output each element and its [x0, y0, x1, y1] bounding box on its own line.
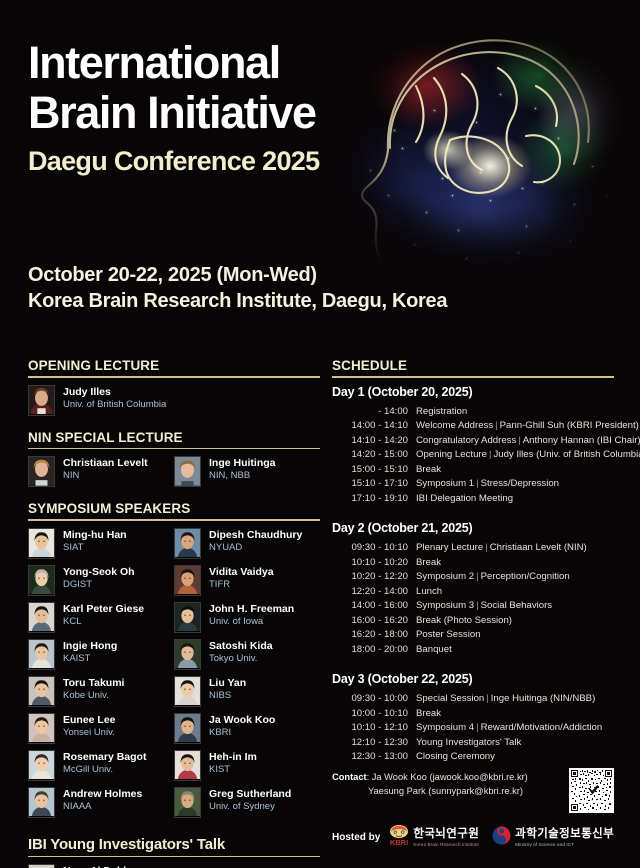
schedule-time: 14:00 - 14:10 [332, 419, 408, 434]
speaker-affiliation: Yonsei Univ. [63, 727, 116, 739]
speaker-card[interactable]: Christiaan Levelt NIN [28, 456, 174, 487]
speaker-affiliation: SIAT [63, 542, 127, 554]
speaker-info: Karl Peter GieseKCL [63, 602, 144, 628]
speaker-card[interactable]: John H. FreemanUniv. of Iowa [174, 602, 320, 633]
speaker-photo [28, 676, 55, 707]
symposium-speaker-list: Ming-hu HanSIATDipesh ChaudhuryNYUADYong… [28, 528, 320, 824]
speaker-affiliation: NYUAD [209, 542, 302, 554]
speaker-info: Toru TakumiKobe Univ. [63, 676, 124, 702]
spacer [332, 657, 614, 672]
conference-location: Korea Brain Research Institute, Daegu, K… [28, 288, 447, 314]
brain-head-artwork [330, 0, 640, 290]
schedule-session-detail: Stress/Depression [481, 478, 559, 489]
spacer [28, 493, 320, 501]
schedule-row: 17:10 - 19:10IBI Delegation Meeting [332, 492, 614, 507]
qr-code[interactable] [569, 768, 614, 813]
speaker-affiliation: KCL [63, 616, 144, 628]
schedule-description: Symposium 4|Reward/Motivation/Addiction [416, 721, 602, 736]
schedule-session-name: Special Session [416, 693, 484, 704]
speaker-photo [174, 639, 201, 670]
speaker-info: Inge Huitinga NIN, NBB [209, 456, 276, 482]
speaker-card[interactable]: Noor Al Dahhan Hospital for Sick Childre… [28, 864, 320, 868]
schedule-time: 10:10 - 12:10 [332, 721, 408, 736]
speaker-info: Eunee LeeYonsei Univ. [63, 713, 116, 739]
schedule-session-detail: Social Behaviors [481, 600, 552, 611]
speaker-photo [28, 750, 55, 781]
schedule-row: 09:30 - 10:00Special Session|Inge Huitin… [332, 692, 614, 707]
schedule-row: 10:20 - 12:20Symposium 2|Perception/Cogn… [332, 570, 614, 585]
head-profile-line-icon [330, 0, 640, 290]
schedule-day: Day 1 (October 20, 2025)- 14:00Registrat… [332, 385, 614, 507]
young-investigators-speaker-list: Noor Al Dahhan Hospital for Sick Childre… [28, 864, 320, 868]
speaker-name: Ingie Hong [63, 640, 117, 653]
speaker-name: Dipesh Chaudhury [209, 529, 302, 542]
speaker-card[interactable]: Dipesh ChaudhuryNYUAD [174, 528, 320, 559]
schedule-session-name: Opening Lecture [416, 449, 487, 460]
speaker-photo [174, 713, 201, 744]
kbri-name-korean: 한국뇌연구원 [413, 828, 479, 841]
schedule-time: 09:30 - 10:10 [332, 541, 408, 556]
speaker-photo [174, 750, 201, 781]
speaker-card[interactable]: Toru TakumiKobe Univ. [28, 676, 174, 707]
speaker-card[interactable]: Ming-hu HanSIAT [28, 528, 174, 559]
kbri-logo-text: 한국뇌연구원 Korea Brain Research Institute [413, 828, 479, 848]
speaker-photo [28, 565, 55, 596]
kbri-logo-icon: KBRI [389, 824, 409, 851]
opening-lecture-speaker-list: Judy Illes Univ. of British Columbia [28, 385, 320, 422]
schedule-description: Break [416, 556, 441, 571]
schedule-session-detail: Perception/Cognition [481, 571, 570, 582]
msit-logo-text: 과학기술정보통신부 Ministry of Science and ICT [515, 828, 614, 848]
stars-overlay [330, 0, 640, 290]
spacer [332, 506, 614, 521]
schedule-description: Closing Ceremony [416, 750, 495, 765]
schedule-day-title: Day 3 (October 22, 2025) [332, 672, 614, 686]
section-heading-nin-special-lecture: NIN SPECIAL LECTURE [28, 430, 320, 448]
section-heading-schedule: SCHEDULE [332, 358, 614, 376]
speaker-affiliation: KAIST [63, 653, 117, 665]
section-divider [28, 856, 320, 858]
speaker-card[interactable]: Greg SutherlandUniv. of Sydney [174, 787, 320, 818]
speaker-photo [28, 864, 55, 868]
speaker-card[interactable]: Yong-Seok OhDGIST [28, 565, 174, 596]
hosted-by-label: Hosted by [332, 832, 380, 843]
poster-subtitle: Daegu Conference 2025 [28, 144, 319, 178]
schedule-session-name: Congratulatory Address [416, 435, 516, 446]
schedule-time: 09:30 - 10:00 [332, 692, 408, 707]
speaker-name: Heh-in Im [209, 751, 257, 764]
speaker-name: Toru Takumi [63, 677, 124, 690]
schedule-time: 16:00 - 16:20 [332, 614, 408, 629]
speaker-card[interactable]: Vidita VaidyaTIFR [174, 565, 320, 596]
schedule-row: 16:20 - 18:00Poster Session [332, 628, 614, 643]
schedule-session-detail: Christiaan Levelt (NIN) [490, 542, 587, 553]
schedule-time: 10:10 - 10:20 [332, 556, 408, 571]
speaker-info: Christiaan Levelt NIN [63, 456, 148, 482]
msit-name-korean: 과학기술정보통신부 [515, 828, 614, 841]
kbri-logo-unit[interactable]: KBRI 한국뇌연구원 Korea Brain Research Institu… [389, 824, 479, 851]
speaker-photo [174, 676, 201, 707]
speaker-photo [174, 787, 201, 818]
speaker-name: Greg Sutherland [209, 788, 291, 801]
schedule-row: 14:10 - 14:20Congratulatory Address|Anth… [332, 434, 614, 449]
section-divider [332, 376, 614, 378]
speaker-name: Satoshi Kida [209, 640, 273, 653]
schedule-description: Banquet [416, 643, 452, 658]
speaker-name: Rosemary Bagot [63, 751, 146, 764]
speaker-affiliation: Kobe Univ. [63, 690, 124, 702]
qr-code-pattern [571, 770, 612, 811]
speaker-card[interactable]: Ja Wook KooKBRI [174, 713, 320, 744]
speaker-name: John H. Freeman [209, 603, 294, 616]
hosted-by-block: Hosted by KBRI 한국뇌연구원 Korea Brain Resear… [332, 824, 632, 851]
schedule-row: 16:00 - 16:20Break (Photo Session) [332, 614, 614, 629]
speaker-card[interactable]: Andrew HolmesNIAAA [28, 787, 174, 818]
schedule-session-detail: Inge Huitinga (NIN/NBB) [491, 693, 596, 704]
schedule-row: 15:10 - 17:10Symposium 1|Stress/Depressi… [332, 477, 614, 492]
contact-primary: Contact: Ja Wook Koo (jawook.koo@kbri.re… [332, 770, 563, 784]
speaker-photo [28, 639, 55, 670]
schedule-session-name: Symposium 1 [416, 478, 474, 489]
speaker-info: Yong-Seok OhDGIST [63, 565, 135, 591]
svg-text:KBRI: KBRI [390, 838, 408, 846]
schedule-row: 15:00 - 15:10Break [332, 463, 614, 478]
msit-taeguk-icon [492, 826, 511, 850]
venue-block: October 20-22, 2025 (Mon-Wed) Korea Brai… [28, 262, 447, 314]
section-divider [28, 376, 320, 378]
schedule-time: 18:00 - 20:00 [332, 643, 408, 658]
schedule-description: Break [416, 707, 441, 722]
schedule-row: 12:10 - 12:30Young Investigators' Talk [332, 736, 614, 751]
schedule-description: Young Investigators' Talk [416, 736, 521, 751]
schedule-time: 10:20 - 12:20 [332, 570, 408, 585]
schedule-description: Special Session|Inge Huitinga (NIN/NBB) [416, 692, 595, 707]
schedule-time: 14:20 - 15:00 [332, 448, 408, 463]
schedule-description: Plenary Lecture|Christiaan Levelt (NIN) [416, 541, 587, 556]
conference-date: October 20-22, 2025 (Mon-Wed) [28, 262, 447, 288]
msit-name-english: Ministry of Science and ICT [515, 841, 614, 848]
speaker-affiliation: NIBS [209, 690, 246, 702]
schedule-session-name: Symposium 3 [416, 600, 474, 611]
speaker-info: Satoshi KidaTokyo Univ. [209, 639, 273, 665]
speaker-info: Ingie HongKAIST [63, 639, 117, 665]
speaker-name: Andrew Holmes [63, 788, 142, 801]
contact-line-2: Yaesung Park (sunnypark@kbri.re.kr) [332, 784, 563, 798]
speaker-card[interactable]: Ingie HongKAIST [28, 639, 174, 670]
schedule-description: Break (Photo Session) [416, 614, 512, 629]
schedule-row: 10:10 - 12:10Symposium 4|Reward/Motivati… [332, 721, 614, 736]
speaker-affiliation: DGIST [63, 579, 135, 591]
schedule-row: 12:30 - 13:00Closing Ceremony [332, 750, 614, 765]
schedule-session-detail: Reward/Motivation/Addiction [481, 722, 603, 733]
speaker-card[interactable]: Heh-in ImKIST [174, 750, 320, 781]
schedule-description: Opening Lecture|Judy Illes (Univ. of Bri… [416, 448, 640, 463]
schedule-time: 12:20 - 14:00 [332, 585, 408, 600]
section-heading-young-investigators: IBI Young Investigators' Talk [28, 836, 320, 856]
conference-poster: International Brain Initiative Daegu Con… [0, 0, 640, 868]
schedule-description: Break [416, 463, 441, 478]
contact-block: Contact: Ja Wook Koo (jawook.koo@kbri.re… [332, 768, 614, 813]
speaker-info: Vidita VaidyaTIFR [209, 565, 274, 591]
speaker-name: Inge Huitinga [209, 457, 276, 470]
speaker-affiliation: McGill Univ. [63, 764, 146, 776]
speaker-name: Eunee Lee [63, 714, 116, 727]
speaker-name: Liu Yan [209, 677, 246, 690]
speaker-info: Ming-hu HanSIAT [63, 528, 127, 554]
contact-text: Contact: Ja Wook Koo (jawook.koo@kbri.re… [332, 768, 563, 798]
schedule-row: 12:20 - 14:00Lunch [332, 585, 614, 600]
speaker-affiliation: NIAAA [63, 801, 142, 813]
speaker-card[interactable]: Judy Illes Univ. of British Columbia [28, 385, 320, 416]
speaker-photo [174, 528, 201, 559]
schedule-description: IBI Delegation Meeting [416, 492, 513, 507]
schedule-day-title: Day 2 (October 21, 2025) [332, 521, 614, 535]
section-divider [28, 519, 320, 521]
speaker-photo [174, 602, 201, 633]
speaker-card[interactable]: Inge Huitinga NIN, NBB [174, 456, 320, 487]
schedule-description: Symposium 3|Social Behaviors [416, 599, 552, 614]
schedule-session-name: Symposium 4 [416, 722, 474, 733]
speaker-card[interactable]: Karl Peter GieseKCL [28, 602, 174, 633]
speaker-photo [28, 787, 55, 818]
schedule-description: Symposium 2|Perception/Cognition [416, 570, 570, 585]
schedule-description: Congratulatory Address|Anthony Hannan (I… [416, 434, 640, 449]
speaker-affiliation: Univ. of Iowa [209, 616, 294, 628]
speaker-info: Liu YanNIBS [209, 676, 246, 702]
schedule-row: - 14:00Registration [332, 405, 614, 420]
speaker-info: Noor Al Dahhan Hospital for Sick Childre… [63, 864, 170, 868]
schedule-time: 12:10 - 12:30 [332, 736, 408, 751]
speaker-photo [28, 602, 55, 633]
schedule-row: 14:00 - 14:10Welcome Address|Pann-Ghill … [332, 419, 614, 434]
title-line-2: Brain Initiative [28, 88, 319, 138]
section-divider [28, 448, 320, 450]
schedule-time: 14:00 - 16:00 [332, 599, 408, 614]
schedule-session-name: Plenary Lecture [416, 542, 483, 553]
msit-logo-unit[interactable]: 과학기술정보통신부 Ministry of Science and ICT [492, 826, 614, 850]
poster-title-block: International Brain Initiative Daegu Con… [28, 38, 319, 178]
schedule-session-detail: Pann-Ghill Suh (KBRI President) [500, 420, 639, 431]
spacer [28, 824, 320, 836]
speaker-info: Heh-in ImKIST [209, 750, 257, 776]
section-heading-opening-lecture: OPENING LECTURE [28, 358, 320, 376]
schedule-session-name: Welcome Address [416, 420, 493, 431]
speaker-info: Greg SutherlandUniv. of Sydney [209, 787, 291, 813]
speaker-name: Christiaan Levelt [63, 457, 148, 470]
speaker-info: Judy Illes Univ. of British Columbia [63, 385, 166, 411]
schedule-row: 14:20 - 15:00Opening Lecture|Judy Illes … [332, 448, 614, 463]
speaker-info: Dipesh ChaudhuryNYUAD [209, 528, 302, 554]
spacer [28, 422, 320, 430]
schedule-days: Day 1 (October 20, 2025)- 14:00Registrat… [332, 385, 614, 765]
schedule-description: Registration [416, 405, 467, 420]
speaker-card[interactable]: Satoshi KidaTokyo Univ. [174, 639, 320, 670]
schedule-time: 15:10 - 17:10 [332, 477, 408, 492]
schedule-time: 10:00 - 10:10 [332, 707, 408, 722]
schedule-row: 10:00 - 10:10Break [332, 707, 614, 722]
speaker-affiliation: NIN [63, 470, 148, 482]
speaker-name: Karl Peter Giese [63, 603, 144, 616]
schedule-session-name: Symposium 2 [416, 571, 474, 582]
contact-line-1: : Ja Wook Koo (jawook.koo@kbri.re.kr) [367, 772, 528, 782]
schedule-time: 12:30 - 13:00 [332, 750, 408, 765]
speaker-affiliation: NIN, NBB [209, 470, 276, 482]
speaker-affiliation: KIST [209, 764, 257, 776]
contact-label: Contact [332, 772, 367, 782]
speaker-card[interactable]: Liu YanNIBS [174, 676, 320, 707]
artwork-fade-mask [330, 0, 640, 290]
speaker-affiliation: Tokyo Univ. [209, 653, 273, 665]
speaker-photo [174, 456, 201, 487]
schedule-time: 14:10 - 14:20 [332, 434, 408, 449]
schedule-time: 17:10 - 19:10 [332, 492, 408, 507]
speaker-affiliation: Univ. of Sydney [209, 801, 291, 813]
speaker-name: Vidita Vaidya [209, 566, 274, 579]
speaker-photo [28, 713, 55, 744]
nin-special-lecture-speaker-list: Christiaan Levelt NIN Inge Huitinga NIN,… [28, 456, 320, 493]
section-heading-symposium-speakers: SYMPOSIUM SPEAKERS [28, 501, 320, 519]
speaker-name: Judy Illes [63, 386, 166, 399]
speaker-card[interactable]: Rosemary BagotMcGill Univ. [28, 750, 174, 781]
schedule-time: - 14:00 [332, 405, 408, 420]
speaker-photo [28, 385, 55, 416]
schedule-description: Lunch [416, 585, 442, 600]
schedule-description: Welcome Address|Pann-Ghill Suh (KBRI Pre… [416, 419, 639, 434]
schedule-day: Day 2 (October 21, 2025)09:30 - 10:10Ple… [332, 521, 614, 657]
speaker-card[interactable]: Eunee LeeYonsei Univ. [28, 713, 174, 744]
speaker-info: Ja Wook KooKBRI [209, 713, 275, 739]
schedule-day-title: Day 1 (October 20, 2025) [332, 385, 614, 399]
speaker-info: Andrew HolmesNIAAA [63, 787, 142, 813]
title-line-1: International [28, 38, 319, 88]
speaker-name: Ja Wook Koo [209, 714, 275, 727]
nebula-background [330, 0, 640, 290]
speakers-column: OPENING LECTURE Judy Illes Univ. of Brit… [28, 358, 320, 868]
speaker-affiliation: Univ. of British Columbia [63, 399, 166, 411]
schedule-session-detail: Judy Illes (Univ. of British Columbia) [493, 449, 640, 460]
schedule-description: Poster Session [416, 628, 481, 643]
schedule-row: 14:00 - 16:00Symposium 3|Social Behavior… [332, 599, 614, 614]
schedule-row: 10:10 - 10:20Break [332, 556, 614, 571]
kbri-name-english: Korea Brain Research Institute [413, 841, 479, 848]
schedule-session-detail: Anthony Hannan (IBI Chair) [523, 435, 640, 446]
schedule-description: Symposium 1|Stress/Depression [416, 477, 559, 492]
schedule-time: 16:20 - 18:00 [332, 628, 408, 643]
speaker-affiliation: TIFR [209, 579, 274, 591]
speaker-info: John H. FreemanUniv. of Iowa [209, 602, 294, 628]
speaker-affiliation: KBRI [209, 727, 275, 739]
schedule-row: 09:30 - 10:10Plenary Lecture|Christiaan … [332, 541, 614, 556]
schedule-day: Day 3 (October 22, 2025)09:30 - 10:00Spe… [332, 672, 614, 765]
schedule-row: 18:00 - 20:00Banquet [332, 643, 614, 658]
speaker-photo [28, 456, 55, 487]
speaker-name: Yong-Seok Oh [63, 566, 135, 579]
schedule-column: SCHEDULE Day 1 (October 20, 2025)- 14:00… [332, 358, 614, 765]
schedule-time: 15:00 - 15:10 [332, 463, 408, 478]
speaker-name: Ming-hu Han [63, 529, 127, 542]
speaker-info: Rosemary BagotMcGill Univ. [63, 750, 146, 776]
speaker-photo [28, 528, 55, 559]
speaker-photo [174, 565, 201, 596]
